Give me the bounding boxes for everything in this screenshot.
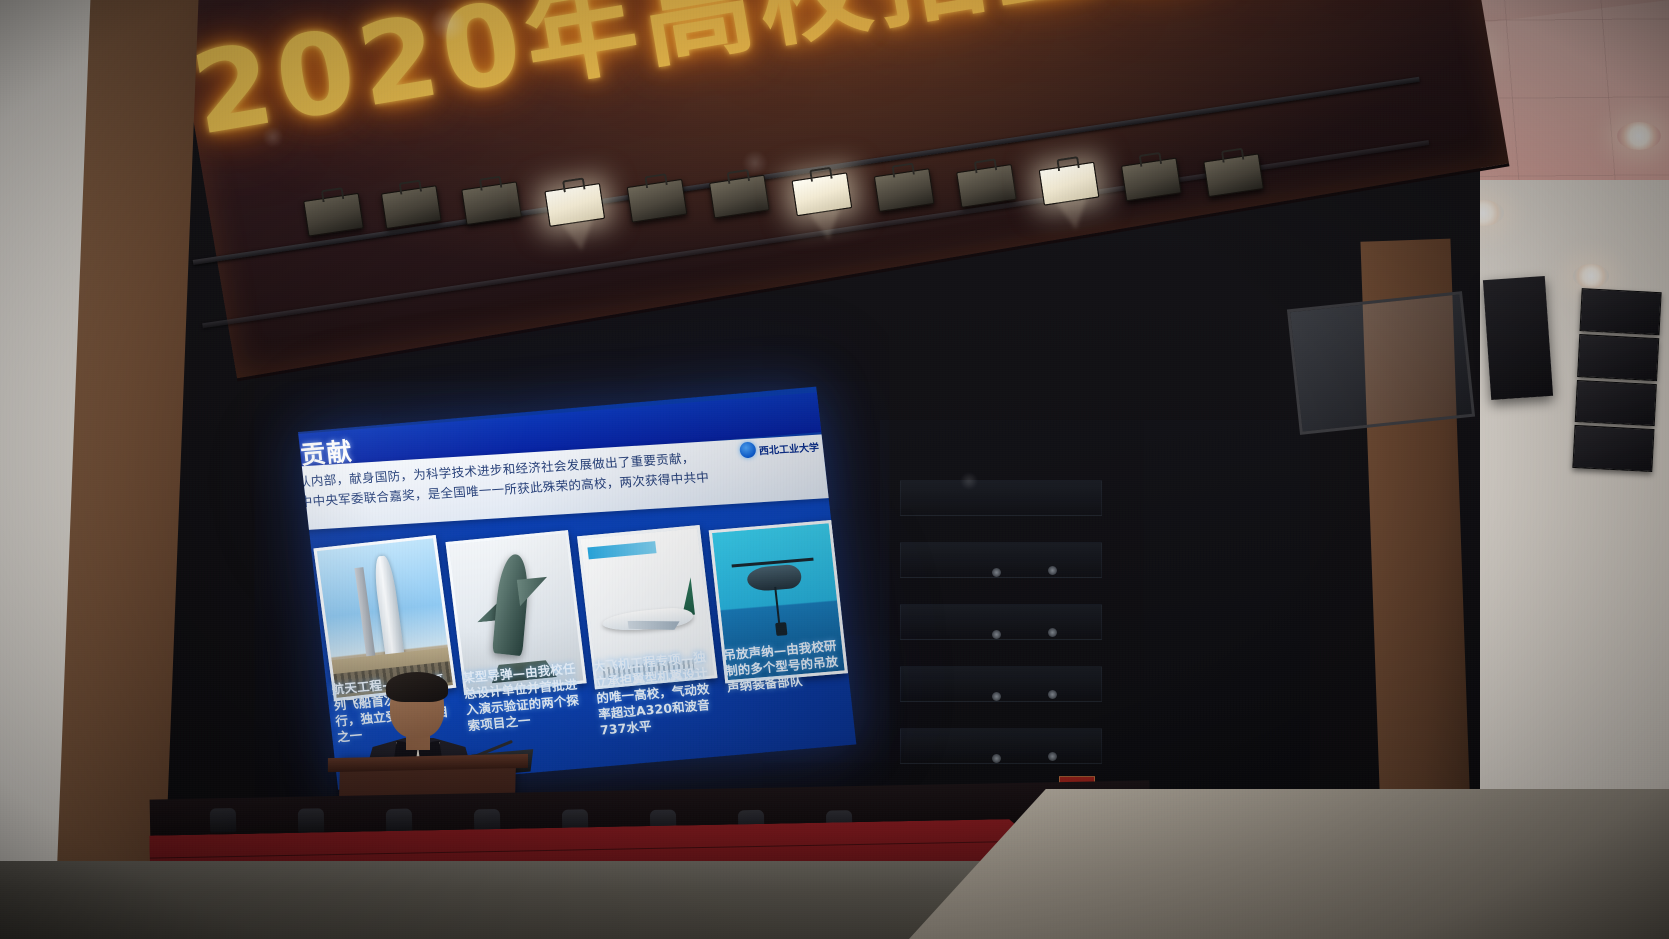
- auditorium-scene: 2020年高校招生宣讲会: [0, 0, 1669, 939]
- footlight-icon: [386, 809, 412, 833]
- stage-light-fixture-icon: [461, 181, 522, 225]
- footlight-icon: [210, 808, 236, 832]
- footlight-icon: [298, 808, 324, 832]
- stage-light-fixture-icon: [709, 175, 770, 219]
- podium-top-surface: [328, 754, 528, 772]
- stage-light-fixture-icon: [627, 179, 688, 223]
- line-array-speaker-icon: [1572, 288, 1659, 472]
- ceiling-downlight: [1617, 122, 1661, 150]
- stage-light-fixture-icon: [303, 193, 364, 237]
- ceiling-downlight: [1573, 264, 1609, 288]
- slide-caption: 大飞机工程专项—独立承担翼型机翼设计的唯一高校，气动效率超过A320和波音737…: [589, 644, 728, 766]
- stage-light-fixture-icon: [1121, 158, 1182, 202]
- stage-light-fixture-icon: [1203, 153, 1264, 197]
- stage-light-fixture-icon: [874, 168, 935, 212]
- university-logo-text: 西北工业大学: [758, 438, 819, 457]
- stage-light-fixture-icon: [956, 164, 1017, 208]
- wall-speaker-icon: [1483, 276, 1553, 400]
- stage-light-fixture-icon: [381, 185, 442, 229]
- nwpu-logo-icon: [739, 442, 756, 459]
- wall-glass-panel: [1287, 291, 1475, 435]
- slide-caption: 吊放声纳—由我校研制的多个型号的吊放声纳装备部队: [719, 633, 856, 755]
